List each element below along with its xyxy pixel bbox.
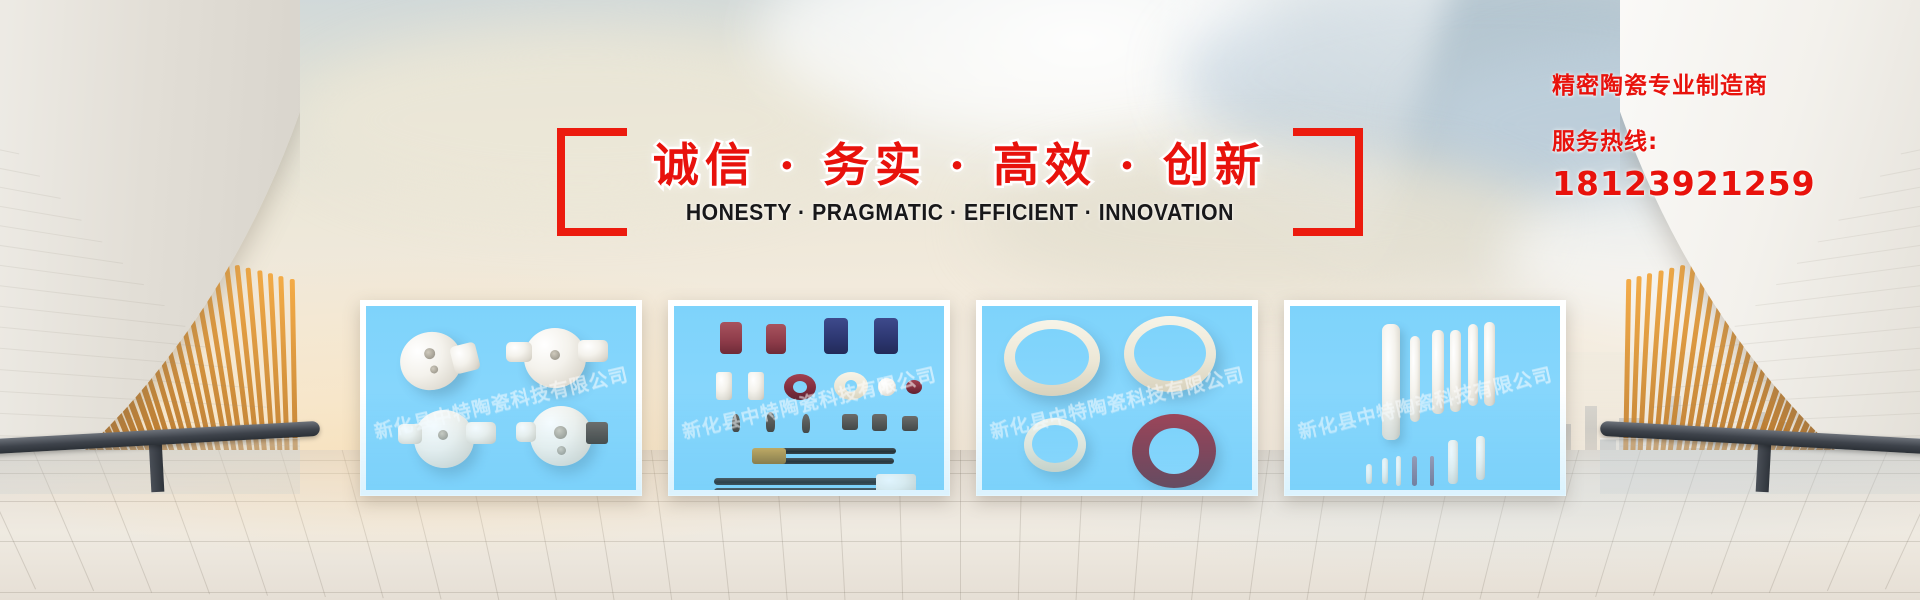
canopy-seam-line (1859, 121, 1920, 199)
canopy-seam-line (1880, 98, 1920, 177)
canopy-seam-line (0, 145, 82, 220)
canopy-seam-line (1901, 74, 1920, 154)
canopy-seam-line (0, 74, 19, 154)
canopy-seam-line (0, 243, 165, 306)
panel-reflection (668, 386, 950, 496)
ceramic-ring-large (1004, 320, 1100, 396)
ceramic-tube-navy (874, 318, 898, 354)
canopy-seam-line (1755, 243, 1920, 306)
panel-reflection (360, 386, 642, 496)
panel-reflection (1284, 386, 1566, 496)
cloud-shape (300, 30, 860, 210)
holder-wing-right (578, 340, 608, 362)
canopy-seam-line (1838, 145, 1920, 220)
promo-banner: 诚信 · 务实 · 高效 · 创新 HONESTY · PRAGMATIC · … (0, 0, 1920, 600)
holder-terminal-block (449, 341, 481, 374)
panel-reflection (976, 386, 1258, 496)
canopy-seam-line (0, 169, 102, 242)
ceramic-tube-red (766, 324, 786, 354)
ceramic-tube-red (720, 322, 742, 354)
canopy-seam-line (0, 98, 40, 177)
canopy-seam-line (0, 121, 61, 199)
canopy-seam-line (1818, 169, 1920, 242)
product-panel-row: 新化县中特陶瓷科技有限公司 (0, 300, 1920, 496)
ceramic-tube-navy (824, 318, 848, 354)
holder-wing-left (506, 342, 532, 362)
